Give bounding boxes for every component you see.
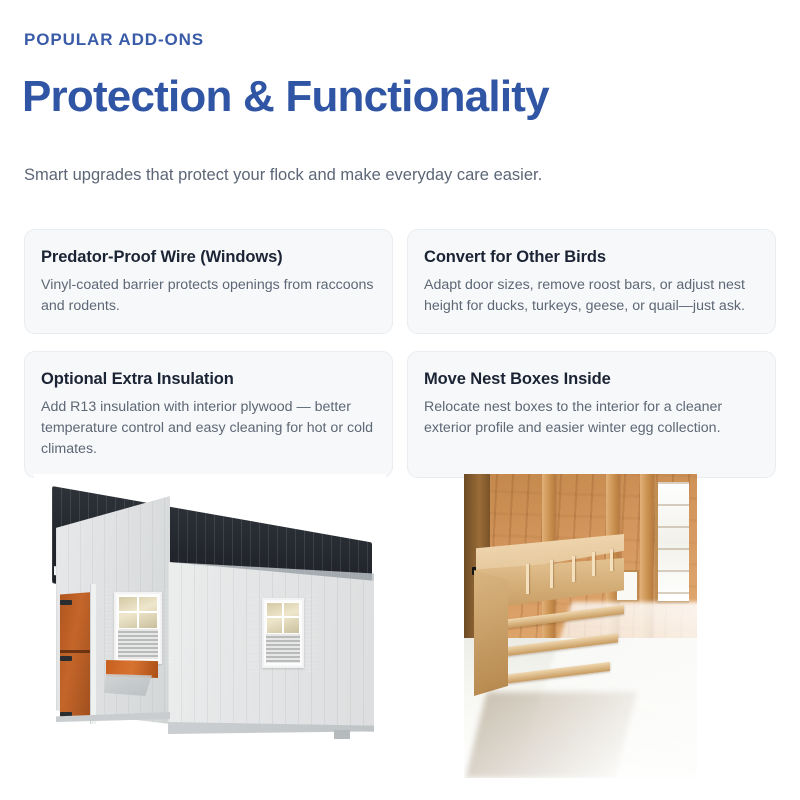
shutter — [164, 589, 175, 667]
doorway-opening — [655, 482, 689, 604]
nest-divider — [592, 552, 595, 576]
floor-shadow — [465, 692, 636, 778]
nest-box-end-panel — [474, 570, 508, 696]
window-vent-screen — [265, 633, 301, 664]
card-body: Relocate nest boxes to the interior for … — [424, 397, 759, 440]
door-hinge — [60, 656, 72, 661]
interior-nest-boxes-photo — [464, 474, 697, 778]
section-eyebrow: POPULAR ADD-ONS — [24, 31, 204, 48]
photo-row — [0, 470, 800, 800]
shutter — [306, 595, 317, 673]
chicken-coop-exterior-photo — [34, 474, 386, 764]
door-hinge — [60, 600, 72, 605]
window-vent-screen — [117, 628, 159, 660]
nest-box-lid — [104, 674, 152, 696]
nest-divider — [572, 556, 575, 582]
shutter — [101, 589, 112, 667]
nest-divider — [526, 564, 529, 594]
door-split-rail — [60, 650, 93, 653]
add-on-card-convert-for-other-birds[interactable]: Convert for Other Birds Adapt door sizes… — [407, 229, 776, 334]
add-on-card-predator-proof-wire[interactable]: Predator-Proof Wire (Windows) Vinyl-coat… — [24, 229, 393, 334]
add-ons-card-grid: Predator-Proof Wire (Windows) Vinyl-coat… — [24, 229, 776, 478]
card-title: Move Nest Boxes Inside — [424, 369, 759, 390]
shutter — [249, 595, 260, 673]
coop-illustration — [34, 474, 386, 764]
add-ons-section: POPULAR ADD-ONS Protection & Functionali… — [0, 0, 800, 800]
card-title: Predator-Proof Wire (Windows) — [41, 247, 376, 268]
doorway-slats — [658, 482, 689, 601]
card-title: Optional Extra Insulation — [41, 369, 376, 390]
window-mullion — [266, 616, 300, 618]
base-foot — [334, 730, 350, 739]
card-title: Convert for Other Birds — [424, 247, 759, 268]
page-title: Protection & Functionality — [22, 72, 549, 121]
nest-divider — [610, 549, 613, 571]
window-left — [114, 592, 162, 664]
nest-divider — [550, 560, 553, 588]
door-trim — [90, 584, 96, 724]
card-body: Vinyl-coated barrier protects openings f… — [41, 275, 376, 318]
card-body: Add R13 insulation with interior plywood… — [41, 397, 376, 461]
section-subtitle: Smart upgrades that protect your flock a… — [24, 164, 542, 188]
interior-illustration — [464, 474, 697, 778]
add-on-card-optional-extra-insulation[interactable]: Optional Extra Insulation Add R13 insula… — [24, 351, 393, 478]
add-on-card-move-nest-boxes-inside[interactable]: Move Nest Boxes Inside Relocate nest box… — [407, 351, 776, 478]
window-mullion — [118, 611, 158, 613]
card-body: Adapt door sizes, remove roost bars, or … — [424, 275, 759, 318]
window-right — [262, 598, 304, 668]
